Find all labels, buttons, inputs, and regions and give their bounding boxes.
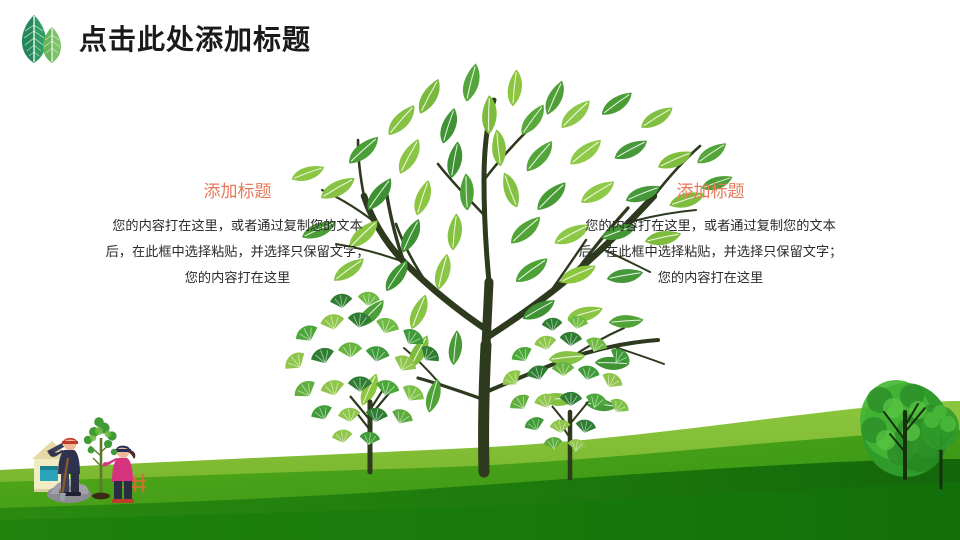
content-block-left[interactable]: 添加标题 您的内容打在这里，或者通过复制您的文本后，在此框中选择粘贴，并选择只保…	[105, 180, 370, 291]
slide-header: 点击此处添加标题	[0, 0, 960, 78]
hills-group	[0, 401, 960, 540]
slide-canvas: 点击此处添加标题 添加标题 您的内容打在这里，或者通过复制您的文本后，在此框中选…	[0, 0, 960, 540]
hill-mid	[0, 430, 960, 540]
content-block-right[interactable]: 添加标题 您的内容打在这里，或者通过复制您的文本后，在此框中选择粘贴，并选择只保…	[578, 180, 843, 291]
content-body-left[interactable]: 您的内容打在这里，或者通过复制您的文本后，在此框中选择粘贴，并选择只保留文字；您…	[105, 213, 370, 291]
hill-back	[0, 401, 960, 540]
hill-front	[0, 459, 960, 540]
midground-tree-right	[499, 314, 633, 478]
person-left	[47, 438, 81, 501]
page-title: 点击此处添加标题	[79, 22, 311, 58]
person-right	[102, 446, 135, 503]
hill-front-shadow	[0, 482, 960, 540]
sapling	[84, 417, 117, 499]
far-right-tree	[860, 380, 959, 488]
fence-illustration	[116, 474, 146, 492]
content-body-right[interactable]: 您的内容打在这里，或者通过复制您的文本后，在此框中选择粘贴，并选择只保留文字；您…	[578, 213, 843, 291]
planting-scene	[32, 417, 146, 503]
content-heading-left[interactable]: 添加标题	[105, 180, 370, 204]
midground-tree-left	[281, 290, 443, 472]
soil-mound	[47, 478, 91, 503]
content-heading-right[interactable]: 添加标题	[578, 180, 843, 204]
two-leaves-icon	[12, 7, 74, 69]
house-illustration	[32, 441, 72, 492]
